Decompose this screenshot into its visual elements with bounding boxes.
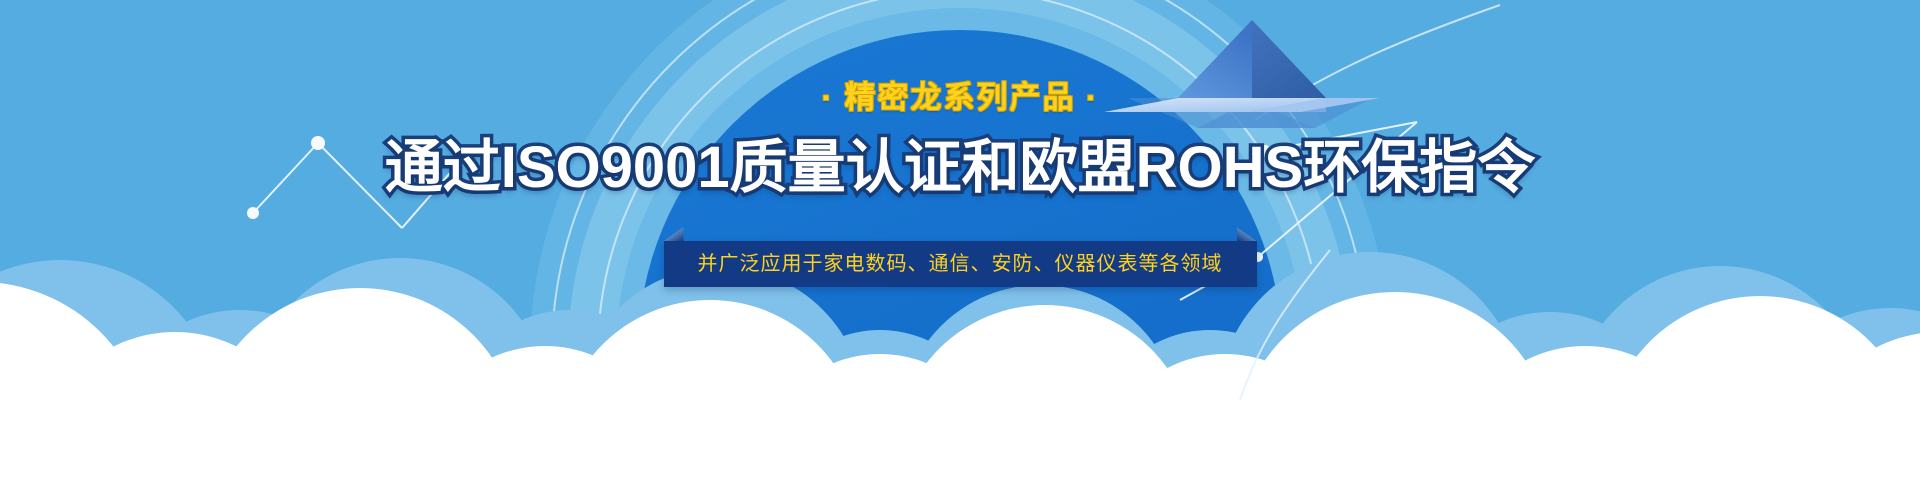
banner-headline: 通过ISO9001质量认证和欧盟ROHS环保指令: [385, 139, 1536, 197]
ribbon-bar: 并广泛应用于家电数码、通信、安防、仪器仪表等各领域: [664, 241, 1257, 287]
ribbon-fold-left-icon: [664, 227, 684, 241]
banner-ribbon: 并广泛应用于家电数码、通信、安防、仪器仪表等各领域: [664, 241, 1257, 287]
banner-eyebrow: · 精密龙系列产品 ·: [822, 82, 1099, 113]
promo-banner: · 精密龙系列产品 · 通过ISO9001质量认证和欧盟ROHS环保指令 并广泛…: [0, 0, 1920, 480]
banner-subtitle: 并广泛应用于家电数码、通信、安防、仪器仪表等各领域: [698, 254, 1223, 274]
ribbon-fold-right-icon: [1237, 227, 1257, 241]
banner-content: · 精密龙系列产品 · 通过ISO9001质量认证和欧盟ROHS环保指令 并广泛…: [0, 0, 1920, 480]
